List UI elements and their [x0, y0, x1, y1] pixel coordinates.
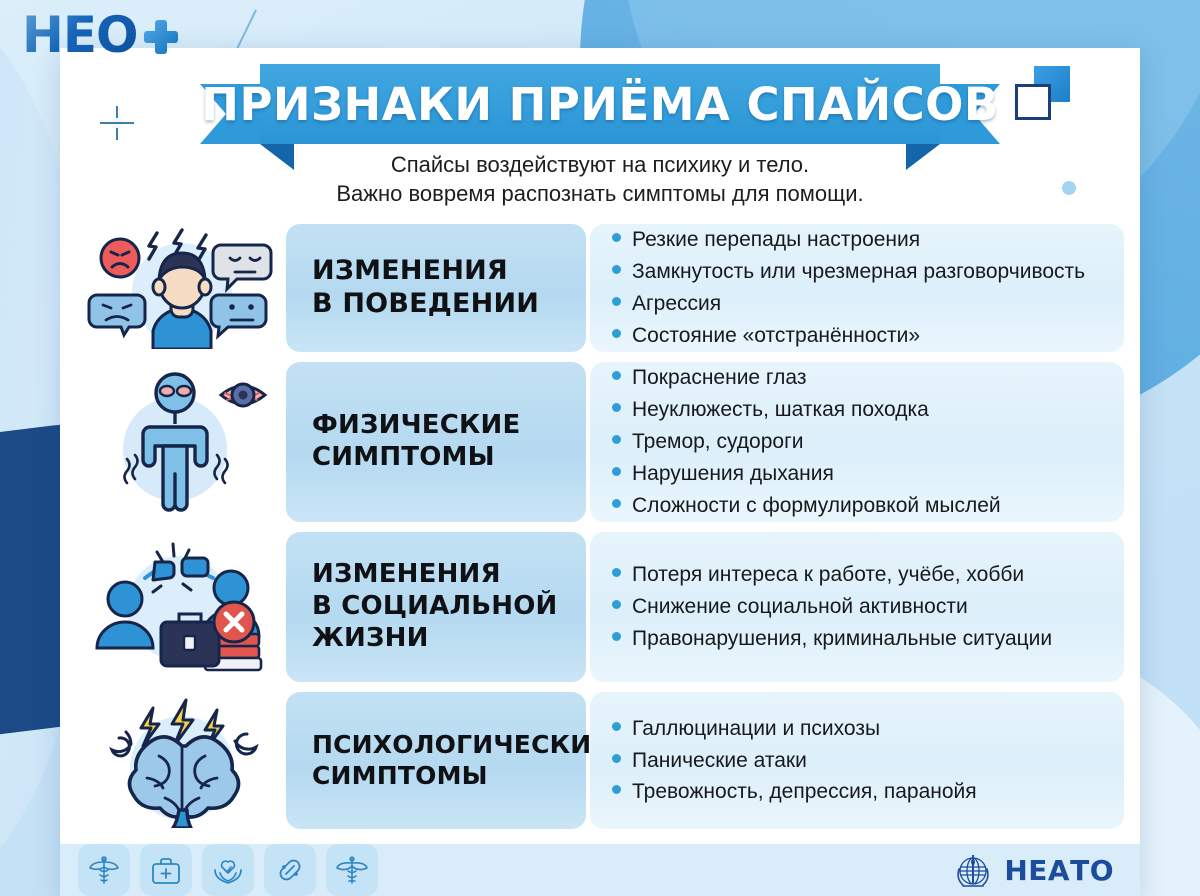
- list-item: Покраснение глаз: [612, 362, 1106, 394]
- bullet-dot-icon: [612, 371, 621, 380]
- section-label-behavior: ИЗМЕНЕНИЯ В ПОВЕДЕНИИ: [286, 224, 586, 352]
- list-item: Правонарушения, криминальные ситуации: [612, 623, 1106, 655]
- bullet-text: Тревожность, депрессия, паранойя: [632, 776, 977, 808]
- footer-icon-button[interactable]: [140, 844, 192, 896]
- list-item: Агрессия: [612, 288, 1106, 320]
- bullet-text: Сложности с формулировкой мыслей: [632, 490, 1001, 522]
- section-title-line-2: В СОЦИАЛЬНОЙ: [312, 591, 558, 621]
- bullet-text: Галлюцинации и психозы: [632, 713, 880, 745]
- list-item: Замкнутость или чрезмерная разговорчивос…: [612, 256, 1106, 288]
- section-title-line-3: ЖИЗНИ: [312, 623, 429, 653]
- bullet-text: Неуклюжесть, шаткая походка: [632, 394, 929, 426]
- bullet-text: Тремор, судороги: [632, 426, 803, 458]
- section-bullets-behavior: Резкие перепады настроения Замкнутость и…: [590, 224, 1124, 352]
- page-title: ПРИЗНАКИ ПРИЁМА СПАЙСОВ: [201, 78, 998, 131]
- list-item: Состояние «отстранённости»: [612, 320, 1106, 352]
- bullet-text: Покраснение глаз: [632, 362, 806, 394]
- brand-logo-plus-icon: [144, 20, 178, 54]
- poster-stage: HEO ПРИЗНАКИ ПРИЁМА СПАЙСОВ Спайсы возде…: [0, 0, 1200, 896]
- bullet-text: Правонарушения, криминальные ситуации: [632, 623, 1052, 655]
- poster-card: ПРИЗНАКИ ПРИЁМА СПАЙСОВ Спайсы воздейств…: [60, 48, 1140, 896]
- footer-icon-button[interactable]: [78, 844, 130, 896]
- footer-icon-button[interactable]: [264, 844, 316, 896]
- caduceus-icon: [87, 853, 121, 887]
- bullet-text: Агрессия: [632, 288, 721, 320]
- list-item: Панические атаки: [612, 745, 1106, 777]
- bullet-dot-icon: [612, 600, 621, 609]
- bullet-dot-icon: [612, 785, 621, 794]
- bullet-text: Замкнутость или чрезмерная разговорчивос…: [632, 256, 1085, 288]
- bullet-dot-icon: [612, 467, 621, 476]
- bullet-text: Снижение социальной активности: [632, 591, 968, 623]
- ribbon-body: ПРИЗНАКИ ПРИЁМА СПАЙСОВ: [260, 64, 940, 144]
- bullet-dot-icon: [612, 297, 621, 306]
- section-title-line-1: ИЗМЕНЕНИЯ: [312, 559, 501, 589]
- bullet-text: Потеря интереса к работе, учёбе, хобби: [632, 559, 1024, 591]
- section-title-line-2: СИМПТОМЫ: [312, 761, 488, 790]
- list-item: Резкие перепады настроения: [612, 224, 1106, 256]
- section-title: ФИЗИЧЕСКИЕ СИМПТОМЫ: [312, 410, 520, 473]
- list-item: Галлюцинации и психозы: [612, 713, 1106, 745]
- organization-logo: НЕАТО: [952, 849, 1114, 891]
- bullet-dot-icon: [612, 329, 621, 338]
- bullet-dot-icon: [612, 435, 621, 444]
- subtitle-line-2: Важно вовремя распознать симптомы для по…: [60, 179, 1140, 208]
- section-title-line-2: В ПОВЕДЕНИИ: [312, 288, 539, 319]
- bullet-dot-icon: [612, 632, 621, 641]
- section-row-behavior: ИЗМЕНЕНИЯ В ПОВЕДЕНИИ Резкие перепады на…: [78, 224, 1124, 352]
- bullet-dot-icon: [612, 499, 621, 508]
- title-ribbon: ПРИЗНАКИ ПРИЁМА СПАЙСОВ: [60, 64, 1140, 160]
- bullet-dot-icon: [612, 754, 621, 763]
- footer-icon-group: [78, 844, 378, 896]
- angry-person-mood-swings-icon: [87, 227, 277, 349]
- section-bullets-social: Потеря интереса к работе, учёбе, хобби С…: [590, 532, 1124, 682]
- brand-logo: HEO: [22, 10, 178, 60]
- list-item: Нарушения дыхания: [612, 458, 1106, 490]
- bullet-text: Панические атаки: [632, 745, 807, 777]
- list-item: Тревожность, депрессия, паранойя: [612, 776, 1106, 808]
- list-item: Неуклюжесть, шаткая походка: [612, 394, 1106, 426]
- section-title: ПСИХОЛОГИЧЕСКИЕ СИМПТОМЫ: [312, 730, 609, 791]
- bullet-dot-icon: [612, 265, 621, 274]
- section-icon-cell: [78, 692, 286, 829]
- sections-list: ИЗМЕНЕНИЯ В ПОВЕДЕНИИ Резкие перепады на…: [60, 224, 1140, 839]
- section-label-psychological: ПСИХОЛОГИЧЕСКИЕ СИМПТОМЫ: [286, 692, 586, 829]
- bullet-dot-icon: [612, 233, 621, 242]
- section-icon-cell: [78, 362, 286, 522]
- crosshair-decoration-icon: [100, 106, 134, 140]
- section-icon-cell: [78, 532, 286, 682]
- list-item: Снижение социальной активности: [612, 591, 1106, 623]
- trembling-figure-red-eye-icon: [87, 367, 277, 517]
- section-label-social: ИЗМЕНЕНИЯ В СОЦИАЛЬНОЙ ЖИЗНИ: [286, 532, 586, 682]
- who-emblem-icon: [952, 849, 994, 891]
- footer-icon-button[interactable]: [326, 844, 378, 896]
- section-icon-cell: [78, 224, 286, 352]
- bullet-dot-icon: [612, 722, 621, 731]
- bullet-dot-icon: [612, 568, 621, 577]
- bullet-dot-icon: [612, 403, 621, 412]
- first-aid-kit-icon: [149, 853, 183, 887]
- section-bullets-psychological: Галлюцинации и психозы Панические атаки …: [590, 692, 1124, 829]
- section-bullets-physical: Покраснение глаз Неуклюжесть, шаткая пох…: [590, 362, 1124, 522]
- list-item: Потеря интереса к работе, учёбе, хобби: [612, 559, 1106, 591]
- section-label-physical: ФИЗИЧЕСКИЕ СИМПТОМЫ: [286, 362, 586, 522]
- capsule-pill-icon: [273, 853, 307, 887]
- section-title-line-1: ИЗМЕНЕНИЯ: [312, 255, 508, 286]
- bullet-text: Резкие перепады настроения: [632, 224, 920, 256]
- section-title-line-1: ПСИХОЛОГИЧЕСКИЕ: [312, 730, 609, 759]
- section-title: ИЗМЕНЕНИЯ В ПОВЕДЕНИИ: [312, 255, 539, 321]
- section-title: ИЗМЕНЕНИЯ В СОЦИАЛЬНОЙ ЖИЗНИ: [312, 559, 558, 654]
- section-row-psychological: ПСИХОЛОГИЧЕСКИЕ СИМПТОМЫ Галлюцинации и …: [78, 692, 1124, 829]
- section-row-social: ИЗМЕНЕНИЯ В СОЦИАЛЬНОЙ ЖИЗНИ Потеря инте…: [78, 532, 1124, 682]
- heart-in-hands-icon: [211, 853, 245, 887]
- section-title-line-2: СИМПТОМЫ: [312, 442, 495, 472]
- footer-icon-button[interactable]: [202, 844, 254, 896]
- brain-lightning-icon: [87, 694, 277, 828]
- poster-footer: НЕАТО: [60, 844, 1140, 896]
- organization-name: НЕАТО: [1004, 854, 1114, 887]
- section-row-physical: ФИЗИЧЕСКИЕ СИМПТОМЫ Покраснение глаз Неу…: [78, 362, 1124, 522]
- section-title-line-1: ФИЗИЧЕСКИЕ: [312, 410, 520, 440]
- list-item: Тремор, судороги: [612, 426, 1106, 458]
- brand-logo-text: HEO: [22, 10, 138, 60]
- caduceus-wings-icon: [335, 853, 369, 887]
- bullet-text: Нарушения дыхания: [632, 458, 834, 490]
- bullet-text: Состояние «отстранённости»: [632, 320, 920, 352]
- list-item: Сложности с формулировкой мыслей: [612, 490, 1106, 522]
- broken-social-link-briefcase-books-icon: [87, 536, 277, 678]
